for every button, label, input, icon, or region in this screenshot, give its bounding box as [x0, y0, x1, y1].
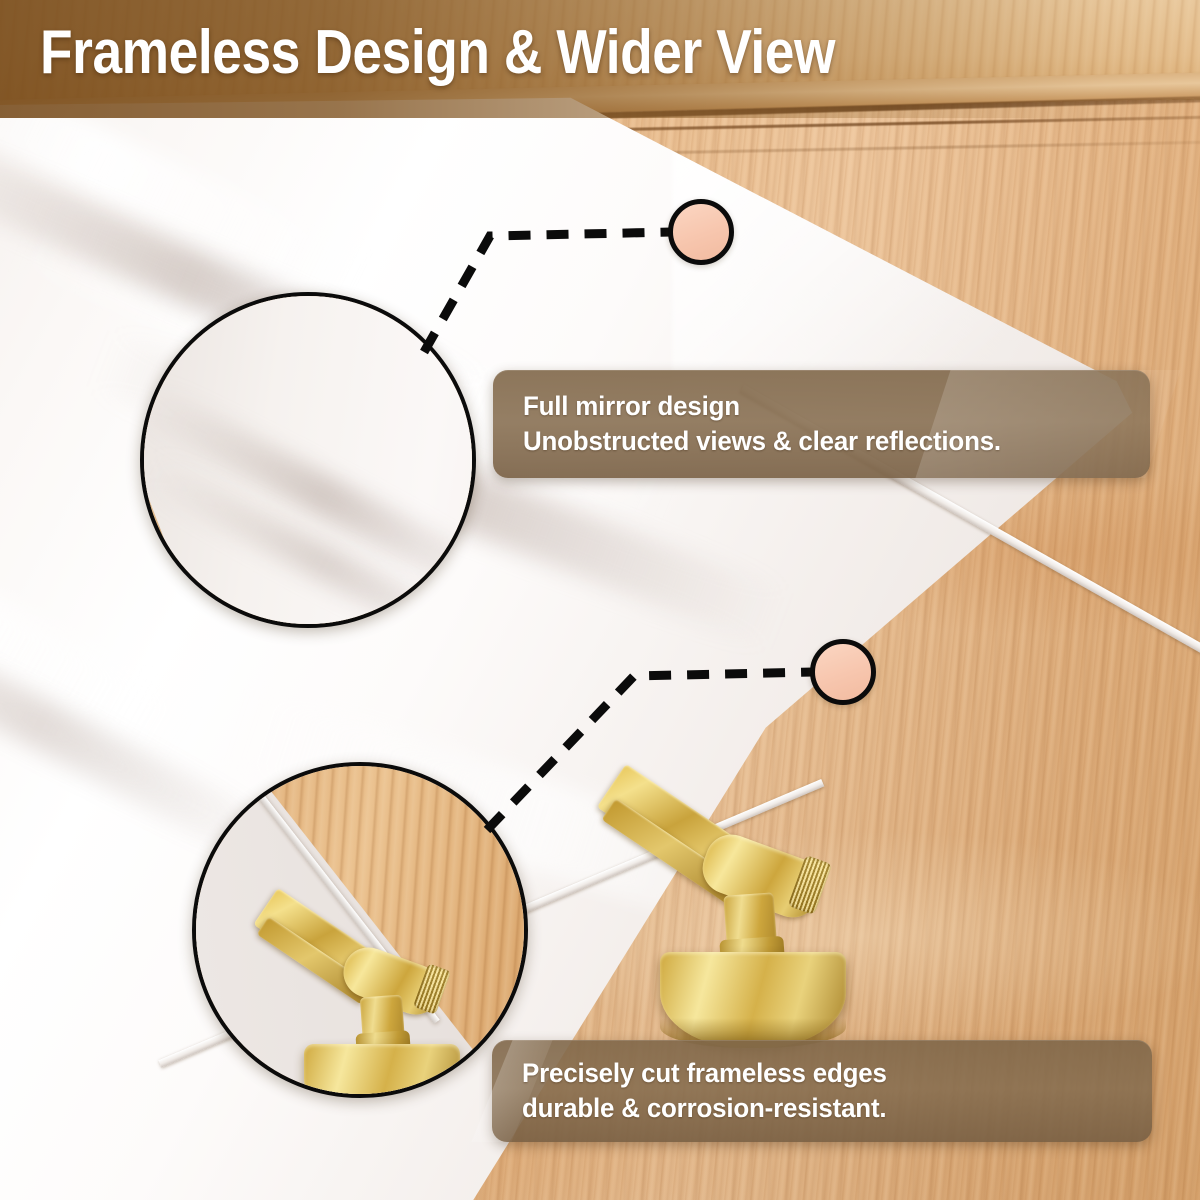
marker-bottom-dot[interactable]	[810, 639, 876, 705]
product-infographic: THE WILLIAM MORRIS MORRIS EXHIBITION BER…	[0, 0, 1200, 1200]
callout-line-1: Full mirror design	[523, 389, 1096, 424]
magnifier-mirror-edge[interactable]	[140, 292, 476, 628]
marker-top-dot[interactable]	[668, 199, 734, 265]
brass-mirror-clip	[598, 762, 878, 1052]
callout-frameless-edges[interactable]: Precisely cut frameless edges durable & …	[492, 1040, 1152, 1142]
callout-full-mirror-design[interactable]: Full mirror design Unobstructed views & …	[493, 370, 1150, 478]
magnifier-bracket[interactable]	[192, 762, 528, 1098]
callout-line-2: durable & corrosion-resistant.	[522, 1091, 1098, 1126]
callout-line-1: Precisely cut frameless edges	[522, 1056, 1098, 1091]
callout-line-2: Unobstructed views & clear reflections.	[523, 424, 1096, 459]
page-title: Frameless Design & Wider View	[40, 22, 835, 84]
frameless-mirror-panel	[0, 60, 1140, 1200]
